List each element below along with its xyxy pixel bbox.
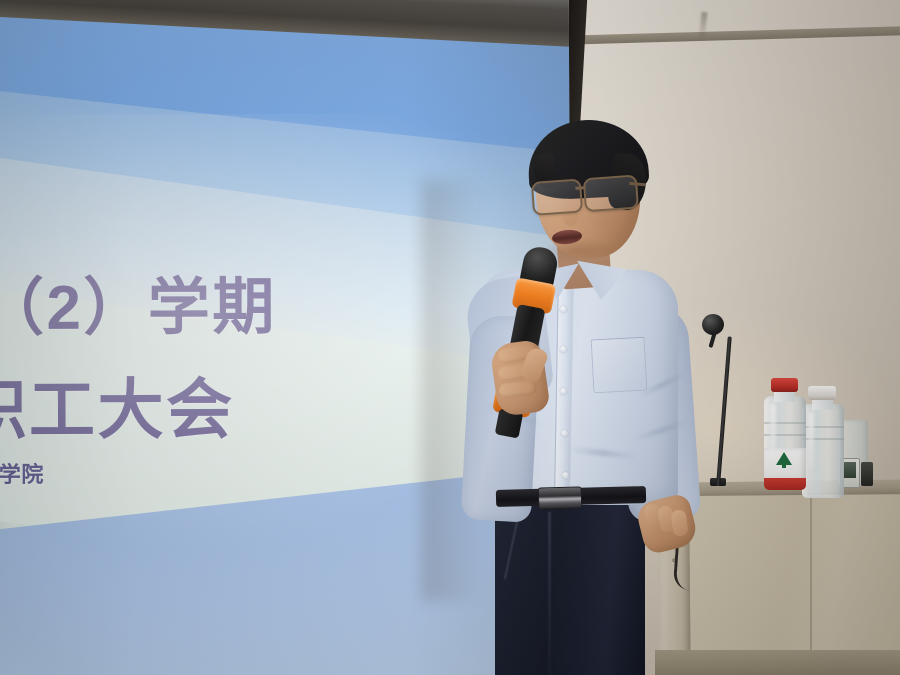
bottle-cap [808,386,836,400]
trouser-crease [548,512,551,675]
bottle-highlight [808,412,814,468]
screenshot-root: （2）学期 职工大会 业学院 [0,0,900,675]
shirt-button [562,472,569,479]
speaker [440,120,760,675]
belt-buckle [538,486,583,509]
eyeglass-lens-left [531,178,583,215]
eyeglasses [529,172,648,220]
slide-line-3: 业学院 [0,457,44,489]
bottle-highlight [770,404,776,460]
shirt-button [560,306,567,313]
water-bottle-red-cap [762,378,808,490]
bottle-label-stripe [764,478,806,490]
bottle-cap [771,378,798,392]
device-screen [844,462,856,478]
small-device-secondary [861,462,873,486]
shirt-button [561,430,568,437]
shirt-button [560,346,567,353]
eyeglass-lens-right [583,175,639,213]
shirt-button [560,388,567,395]
pine-tree-logo-icon [776,452,792,469]
lectern-panel-seam [810,497,812,675]
slide-line-1: （2）学期 [0,256,277,347]
shirt-chest-pocket [591,337,648,394]
slide-line-2: 职工大会 [0,356,235,453]
